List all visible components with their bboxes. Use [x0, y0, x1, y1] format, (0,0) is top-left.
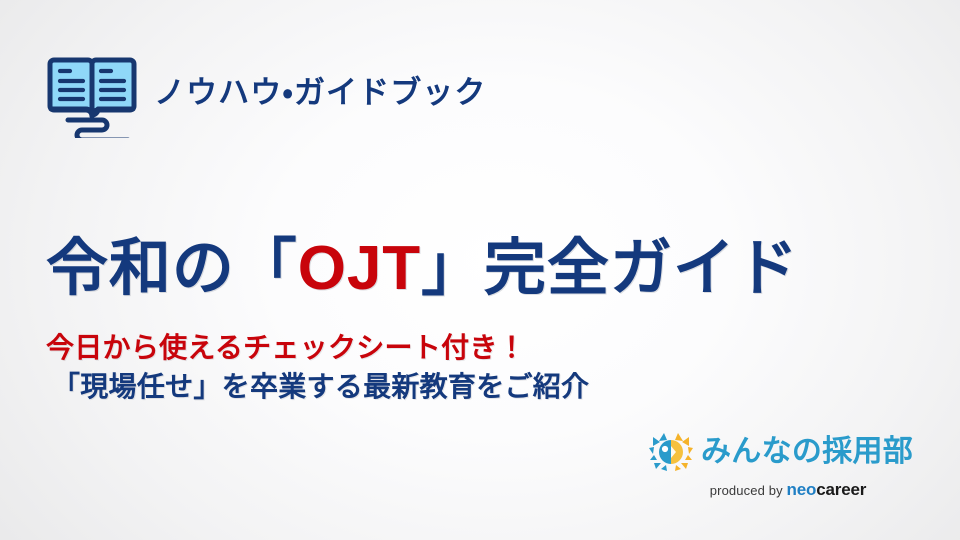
eyebrow-row: ノウハウ・ガイドブック — [46, 46, 486, 138]
eyebrow-label: ノウハウ・ガイドブック — [154, 77, 486, 108]
open-book-icon — [46, 46, 138, 138]
brand-name: みんなの採用部 — [701, 437, 913, 467]
sun-logo-icon — [648, 432, 694, 472]
subtitle-line-1: 今日から使えるチェックシート付き！ — [46, 328, 589, 367]
brand-logo-main: みんなの採用部 — [648, 430, 888, 474]
brand-logo: みんなの採用部 produced by neocareer — [648, 430, 888, 499]
tagline-neo: neo — [786, 480, 816, 499]
page-title: 令和の「OJT」完全ガイド — [46, 234, 799, 303]
slide-canvas: ノウハウ・ガイドブック 令和の「OJT」完全ガイド 今日から使えるチェックシート… — [0, 0, 960, 540]
title-prefix: 令和の「 — [46, 234, 298, 303]
tagline-career: career — [816, 480, 866, 499]
brand-tagline: produced by neocareer — [648, 481, 888, 499]
subtitle-line-2: 「現場任せ」を卒業する最新教育をご紹介 — [46, 367, 589, 406]
title-suffix: 」完全ガイド — [421, 234, 799, 303]
title-accent: OJT — [298, 234, 421, 303]
tagline-produced-by: produced by — [710, 483, 787, 498]
subtitle-block: 今日から使えるチェックシート付き！ 「現場任せ」を卒業する最新教育をご紹介 — [46, 328, 589, 406]
